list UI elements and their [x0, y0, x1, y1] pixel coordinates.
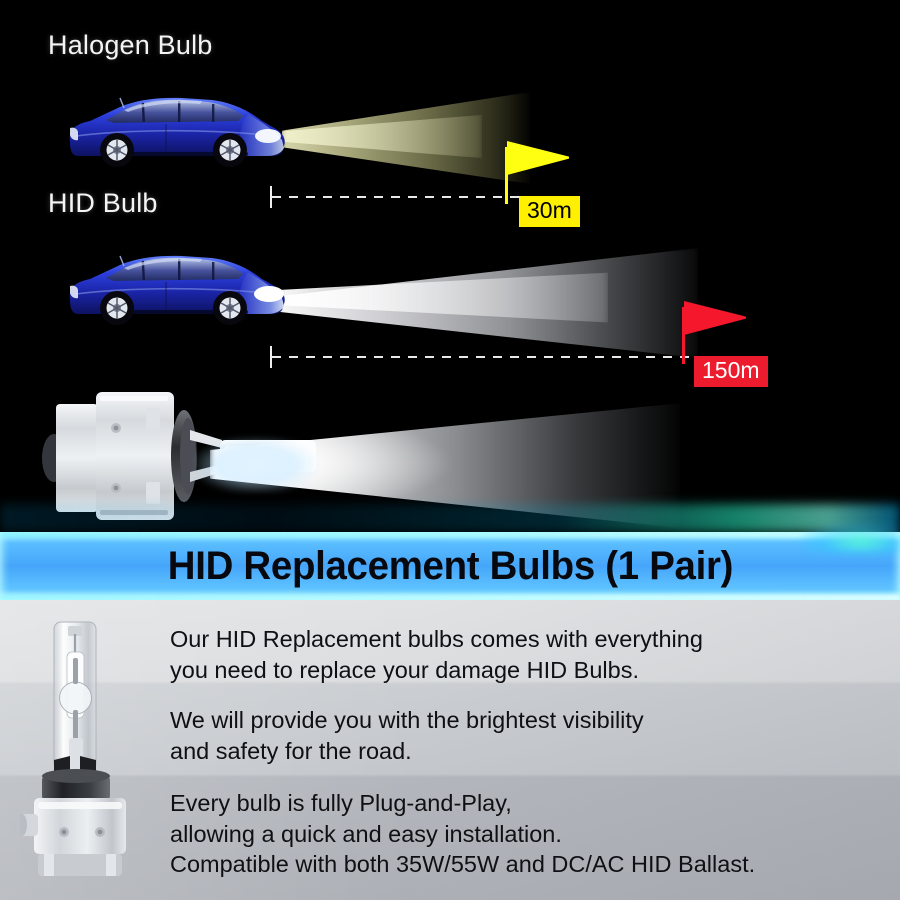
- distance-label-30m: 30m: [519, 196, 580, 227]
- description-paragraph-3: Every bulb is fully Plug-and-Play, allow…: [170, 788, 890, 880]
- description-line: and safety for the road.: [170, 736, 890, 767]
- product-title-banner: HID Replacement Bulbs (1 Pair): [0, 532, 900, 600]
- distance-line-30m: [270, 190, 523, 204]
- product-description-section: Our HID Replacement bulbs comes with eve…: [0, 600, 900, 900]
- halogen-beam-core: [282, 112, 482, 160]
- description-line: allowing a quick and easy installation.: [170, 819, 890, 850]
- halogen-beam: [282, 92, 530, 184]
- description-line: Compatible with both 35W/55W and DC/AC H…: [170, 849, 890, 880]
- flag-pennant-icon: [507, 141, 569, 175]
- hid-bulb-flare: [196, 438, 316, 492]
- halogen-bulb-label: Halogen Bulb: [48, 30, 213, 61]
- description-line: Every bulb is fully Plug-and-Play,: [170, 788, 890, 819]
- car-hid-illustration: [62, 238, 292, 328]
- flag-pennant-icon: [684, 301, 746, 335]
- car-halogen-illustration: [62, 80, 292, 170]
- measure-dashes: [272, 356, 700, 358]
- description-text-block: Our HID Replacement bulbs comes with eve…: [170, 624, 890, 880]
- description-paragraph-2: We will provide you with the brightest v…: [170, 705, 890, 766]
- measure-dashes: [272, 196, 523, 198]
- beam-comparison-section: Halogen Bulb HID Bulb: [0, 0, 900, 532]
- hid-bulb-label: HID Bulb: [48, 188, 158, 219]
- distance-label-150m: 150m: [694, 356, 768, 387]
- hero-bottom-glow: [0, 504, 900, 532]
- description-line: Our HID Replacement bulbs comes with eve…: [170, 624, 890, 655]
- distance-line-150m: [270, 350, 700, 364]
- description-line: We will provide you with the brightest v…: [170, 705, 890, 736]
- hid-beam: [278, 248, 698, 358]
- product-infographic: Halogen Bulb HID Bulb: [0, 0, 900, 900]
- hid-beam-core: [278, 268, 608, 326]
- description-line: you need to replace your damage HID Bulb…: [170, 655, 890, 686]
- banner-glow-accent: [800, 524, 900, 554]
- product-title: HID Replacement Bulbs (1 Pair): [167, 544, 732, 589]
- description-paragraph-1: Our HID Replacement bulbs comes with eve…: [170, 624, 890, 685]
